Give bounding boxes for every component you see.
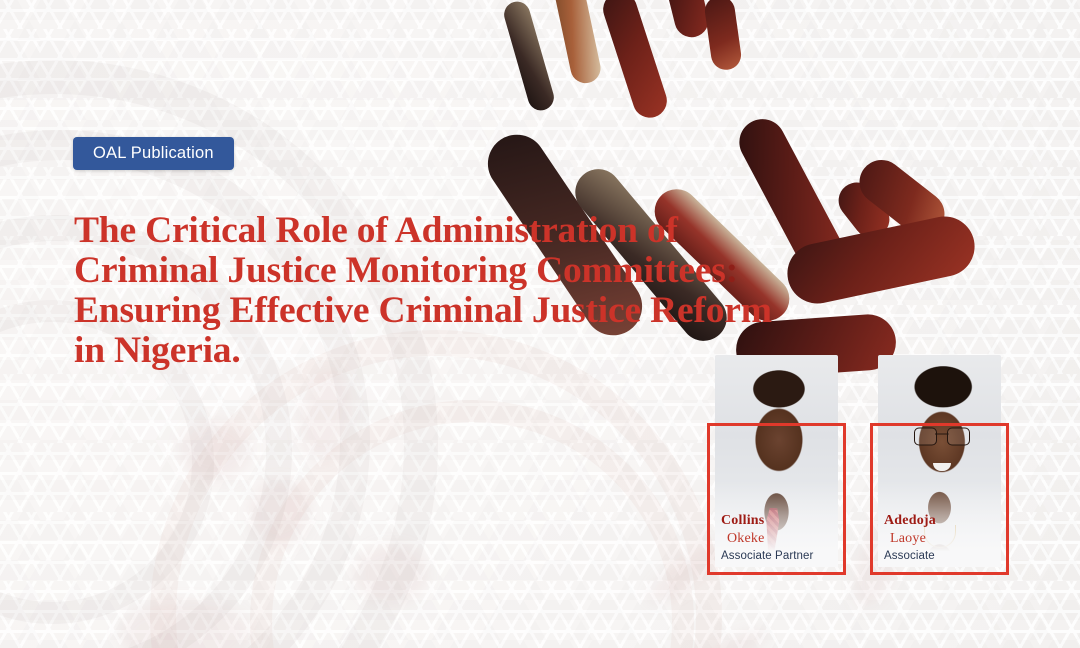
- headline-line-2: Criminal Justice Monitoring Committees:: [74, 251, 834, 291]
- person-lastname-line: Laoye: [884, 529, 936, 547]
- person-card-adedoja-laoye[interactable]: Adedoja Laoye Associate: [870, 423, 1009, 575]
- smile: [933, 463, 951, 471]
- background-blob: [180, 420, 250, 480]
- person-card-collins-okeke[interactable]: Collins Okeke Associate Partner: [707, 423, 846, 575]
- headline-line-2-text: Criminal Justice Monitoring Committees: [74, 250, 726, 291]
- headline-colon: :: [726, 250, 738, 291]
- publication-badge-label: OAL Publication: [93, 144, 214, 163]
- person-role: Associate Partner: [721, 549, 813, 564]
- background-blob: [355, 545, 427, 603]
- publication-banner: OAL Publication The Critical Role of Adm…: [0, 0, 1080, 648]
- person-name-line: Collins: [721, 511, 813, 529]
- person-caption: Adedoja Laoye Associate: [884, 511, 936, 564]
- person-first-name: Collins: [721, 513, 764, 528]
- gavel-segment: [551, 0, 604, 86]
- eyeglasses-lens-left: [914, 427, 937, 445]
- person-caption: Collins Okeke Associate Partner: [721, 511, 813, 564]
- gavel-segment: [501, 0, 557, 113]
- page-title: The Critical Role of Administration of C…: [74, 211, 834, 371]
- eyeglasses-lens-right: [947, 427, 970, 445]
- headline-line-3: Ensuring Effective Criminal Justice Refo…: [74, 291, 834, 331]
- headline-line-1: The Critical Role of Administration of: [74, 211, 834, 251]
- gavel-segment: [658, 0, 712, 41]
- person-name-line: Adedoja: [884, 511, 936, 529]
- person-role: Associate: [884, 549, 936, 564]
- person-last-name: Laoye: [890, 531, 926, 546]
- person-first-name: Adedoja: [884, 513, 936, 528]
- gavel-segment: [599, 0, 672, 122]
- person-last-name: Okeke: [727, 531, 765, 546]
- publication-badge[interactable]: OAL Publication: [73, 137, 234, 170]
- gavel-segment: [703, 0, 743, 72]
- eyeglasses: [914, 427, 970, 444]
- background-blob: [250, 480, 310, 546]
- person-lastname-line: Okeke: [721, 529, 813, 547]
